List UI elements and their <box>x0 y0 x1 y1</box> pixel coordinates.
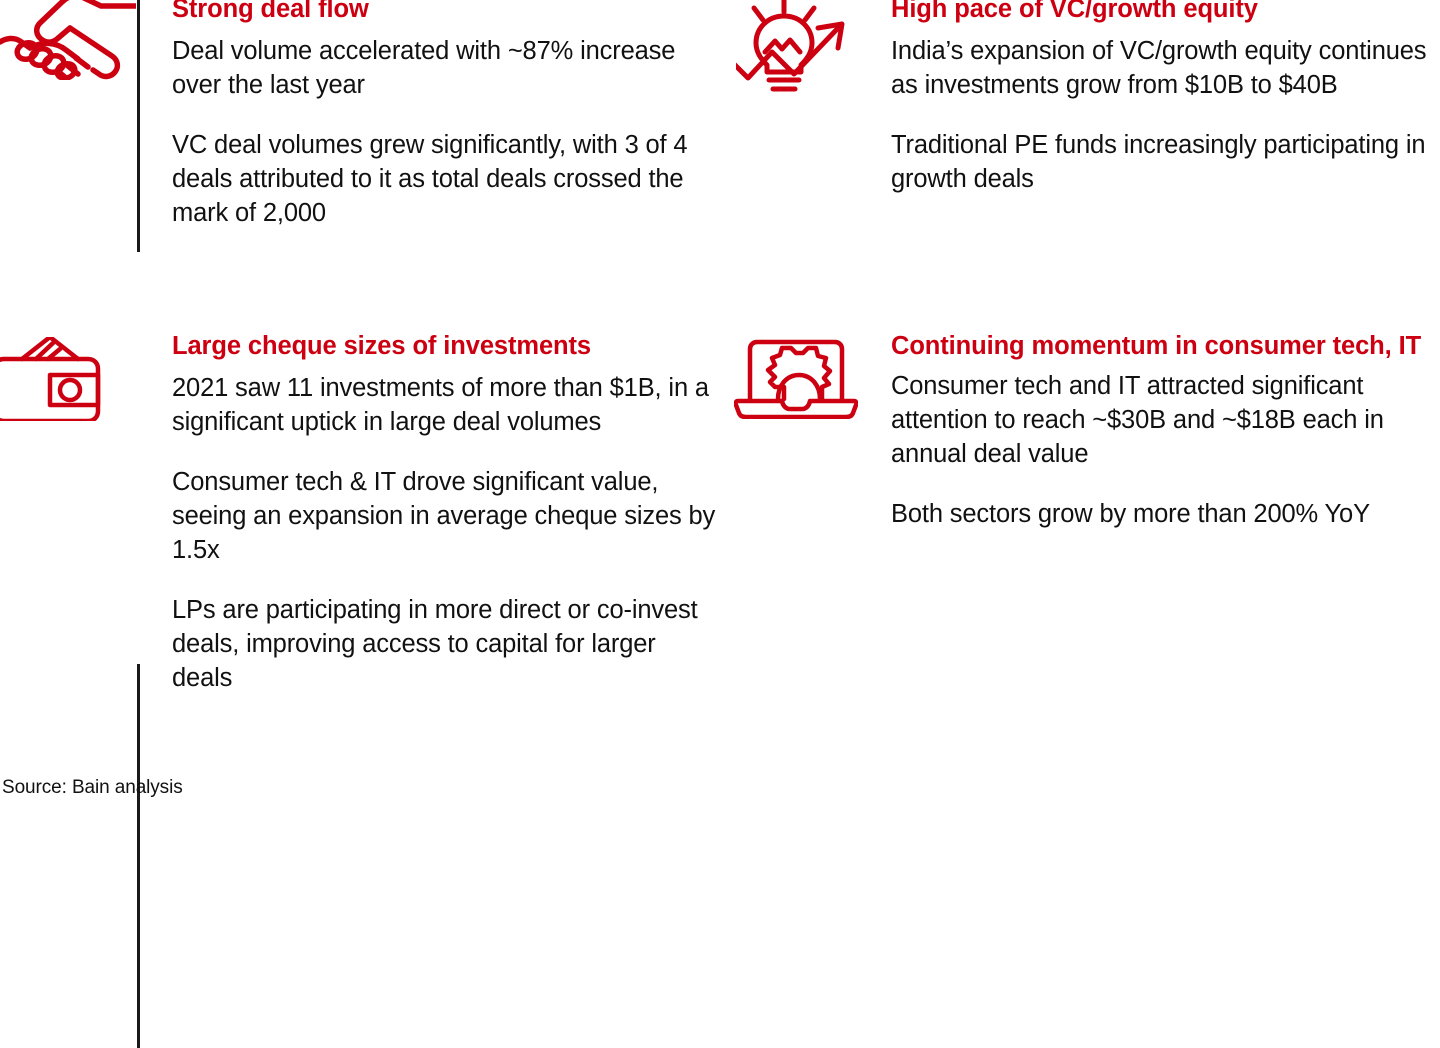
handshake-icon <box>0 0 136 80</box>
card-heading: High pace of VC/growth equity <box>891 0 1440 25</box>
card-paragraph: VC deal volumes grew significantly, with… <box>172 128 720 230</box>
card-text: Continuing momentum in consumer tech, IT… <box>864 331 1440 531</box>
card-heading: Strong deal flow <box>172 0 720 25</box>
slide-canvas: Strong deal flow Deal volume accelerated… <box>0 0 1440 810</box>
card-text: Strong deal flow Deal volume accelerated… <box>138 0 720 230</box>
handshake-icon-cell <box>0 0 138 80</box>
card-text: High pace of VC/growth equity India’s ex… <box>864 0 1440 196</box>
source-note: Source: Bain analysis <box>2 776 183 800</box>
card-strong-deal-flow: Strong deal flow Deal volume accelerated… <box>0 0 720 230</box>
card-paragraph: Consumer tech and IT attracted significa… <box>891 369 1440 471</box>
lightbulb-growth-icon <box>736 0 864 104</box>
laptop-gear-icon <box>734 339 858 419</box>
card-divider <box>137 664 140 1048</box>
card-text: Large cheque sizes of investments 2021 s… <box>138 331 720 695</box>
card-paragraph: India’s expansion of VC/growth equity co… <box>891 34 1440 102</box>
card-heading: Large cheque sizes of investments <box>172 331 720 362</box>
card-paragraph: 2021 saw 11 investments of more than $1B… <box>172 371 720 439</box>
laptop-gear-icon-cell <box>726 331 864 419</box>
wallet-icon <box>0 337 120 421</box>
card-paragraph: Both sectors grow by more than 200% YoY <box>891 497 1440 531</box>
card-large-cheque-sizes: Large cheque sizes of investments 2021 s… <box>0 331 720 695</box>
card-divider <box>137 0 140 252</box>
card-high-pace-vc-growth-equity: High pace of VC/growth equity India’s ex… <box>726 0 1440 196</box>
card-paragraph: Traditional PE funds increasingly partic… <box>891 128 1440 196</box>
card-paragraph: Deal volume accelerated with ~87% increa… <box>172 34 720 102</box>
wallet-icon-cell <box>0 331 138 421</box>
card-paragraph: LPs are participating in more direct or … <box>172 593 720 695</box>
card-heading: Continuing momentum in consumer tech, IT <box>891 331 1440 362</box>
lightbulb-growth-icon-cell <box>726 0 864 104</box>
card-continuing-momentum-consumer-tech-it: Continuing momentum in consumer tech, IT… <box>726 331 1440 531</box>
card-paragraph: Consumer tech & IT drove significant val… <box>172 465 720 567</box>
